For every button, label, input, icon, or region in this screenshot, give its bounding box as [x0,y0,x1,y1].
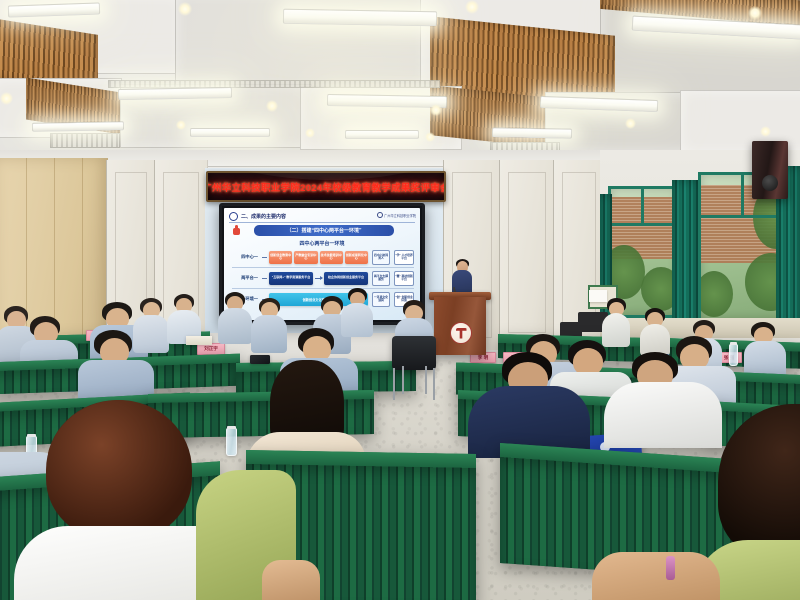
diagram-tail-box: 一环境文化浸润 [372,292,390,307]
slide-subtitle: 四中心两平台一环境 [224,240,420,247]
water-bottle [729,344,738,366]
diagram-box: 产教融合实训中心 [294,251,317,264]
curtain[interactable] [672,180,698,330]
bracelet [666,556,675,580]
phone [250,355,270,364]
wall-partition-panel [499,160,555,345]
diagram-box: 校企协同创新创业服务平台 [324,272,368,285]
notebook [186,336,212,345]
wall-speaker [752,141,788,199]
led-banner-text: 广州华立科技职业学院2024年校级教育教学成果奖评审会 [206,180,446,194]
slide-divider [229,222,415,223]
attendee-hand [262,560,320,600]
diagram-tail-box: “学” 人才培养平台 [394,250,414,265]
diagram-tail-box: 四中心协同育人 [372,250,390,265]
attendee-arm [592,552,720,600]
chair[interactable] [392,336,436,370]
water-bottle [226,428,237,456]
placard-name: 刘正宇 [204,346,218,352]
paper-sheet [589,290,607,302]
podium-emblem [450,322,472,344]
diagram-box: 创新成果转化中心 [345,251,368,264]
chair-leg [433,368,435,400]
institution-logo-icon [229,212,238,221]
diagram-box: 创新创业教育中心 [269,251,292,264]
diagram-row: 四中心一 创新创业教育中心 产教融合实训中心 技术技能培训中心 创新成果转化中心… [232,249,414,265]
diagram-row-label: 两平台一 [232,275,260,281]
slide-section-heading: 二、成果的主要内容 [241,213,286,220]
small-logo-icon [377,212,383,218]
arrow-icon [315,278,322,279]
slide-corner-branding: 广州华立科技职业学院 [377,212,416,218]
chair-leg [425,366,427,394]
diagram-tail-box: “赛” 科技创新平台 [394,271,414,286]
thumbs-up-icon [232,225,241,235]
ceiling-light [32,121,124,132]
slide-title-banner: （二）搭建“四中心两平台一环境” [254,225,394,236]
diagram-box: 技术技能培训中心 [320,251,343,264]
diagram-row-label: 四中心一 [232,254,260,260]
chair-leg [402,366,404,394]
placard-name: 李 明 [478,355,488,361]
diagram-box: “互联网+” 教学资源服务平台 [269,272,313,285]
chair-leg [393,368,395,400]
meeting-room-photo: 广州华立科技职业学院2024年校级教育教学成果奖评审会 二、成果的主要内容 广州… [0,0,800,600]
ceiling-vent [50,133,120,148]
diagram-tail-box: 两平台支撑服务 [372,271,390,286]
diagram-row: 两平台一 “互联网+” 教学资源服务平台 校企协同创新创业服务平台 两平台支撑服… [232,270,414,286]
slide-corner-text: 广州华立科技职业学院 [384,213,416,218]
slide-title-text: （二）搭建“四中心两平台一环境” [286,227,361,234]
